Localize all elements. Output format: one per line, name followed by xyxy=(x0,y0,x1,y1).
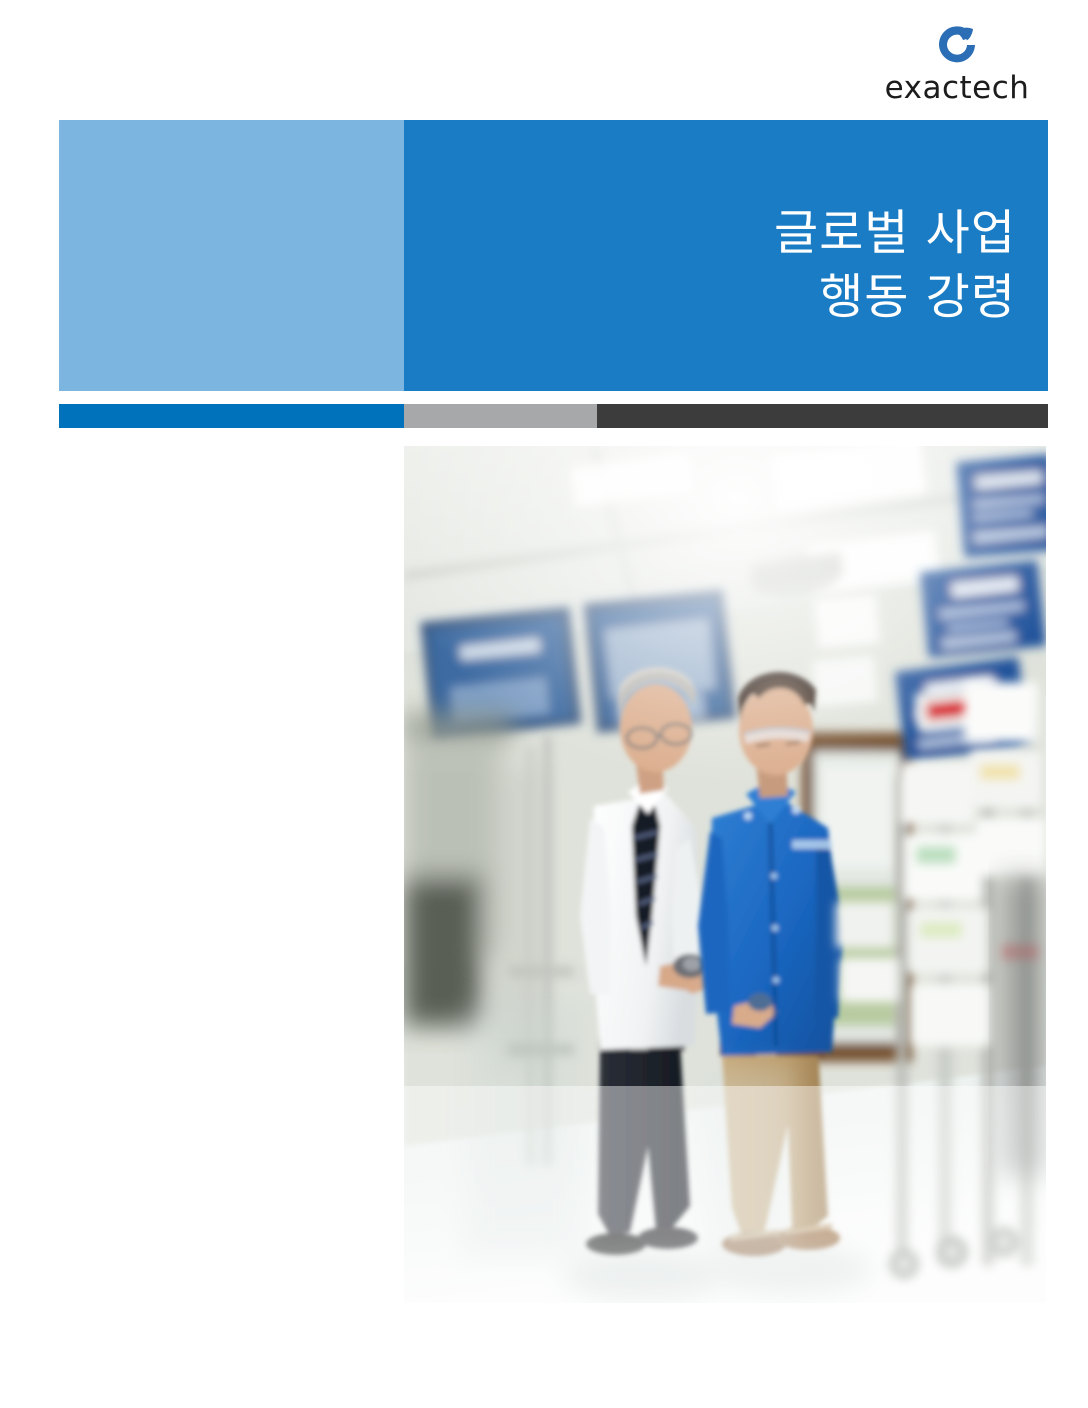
header-band: 글로벌 사업 행동 강령 xyxy=(59,120,1048,391)
cover-photo xyxy=(404,446,1046,1303)
page-title: 글로벌 사업 행동 강령 xyxy=(774,202,1016,329)
rule-segment-gray xyxy=(404,404,597,428)
header-right-color-block: 글로벌 사업 행동 강령 xyxy=(404,120,1048,391)
page-title-line-2: 행동 강령 xyxy=(774,266,1016,329)
header-left-color-block xyxy=(59,120,404,391)
exactech-e-circle-logo-icon xyxy=(932,20,982,70)
brand-logo: exactech xyxy=(862,20,1052,116)
brand-wordmark: exactech xyxy=(885,73,1030,104)
rule-segment-blue xyxy=(59,404,404,428)
cover-page: exactech 글로벌 사업 행동 강령 xyxy=(0,0,1088,1408)
tricolor-rule-bar xyxy=(59,404,1048,428)
page-title-line-1: 글로벌 사업 xyxy=(774,202,1016,265)
rule-segment-dark-gray xyxy=(597,404,1048,428)
cover-photo-illustration xyxy=(404,446,1046,1303)
